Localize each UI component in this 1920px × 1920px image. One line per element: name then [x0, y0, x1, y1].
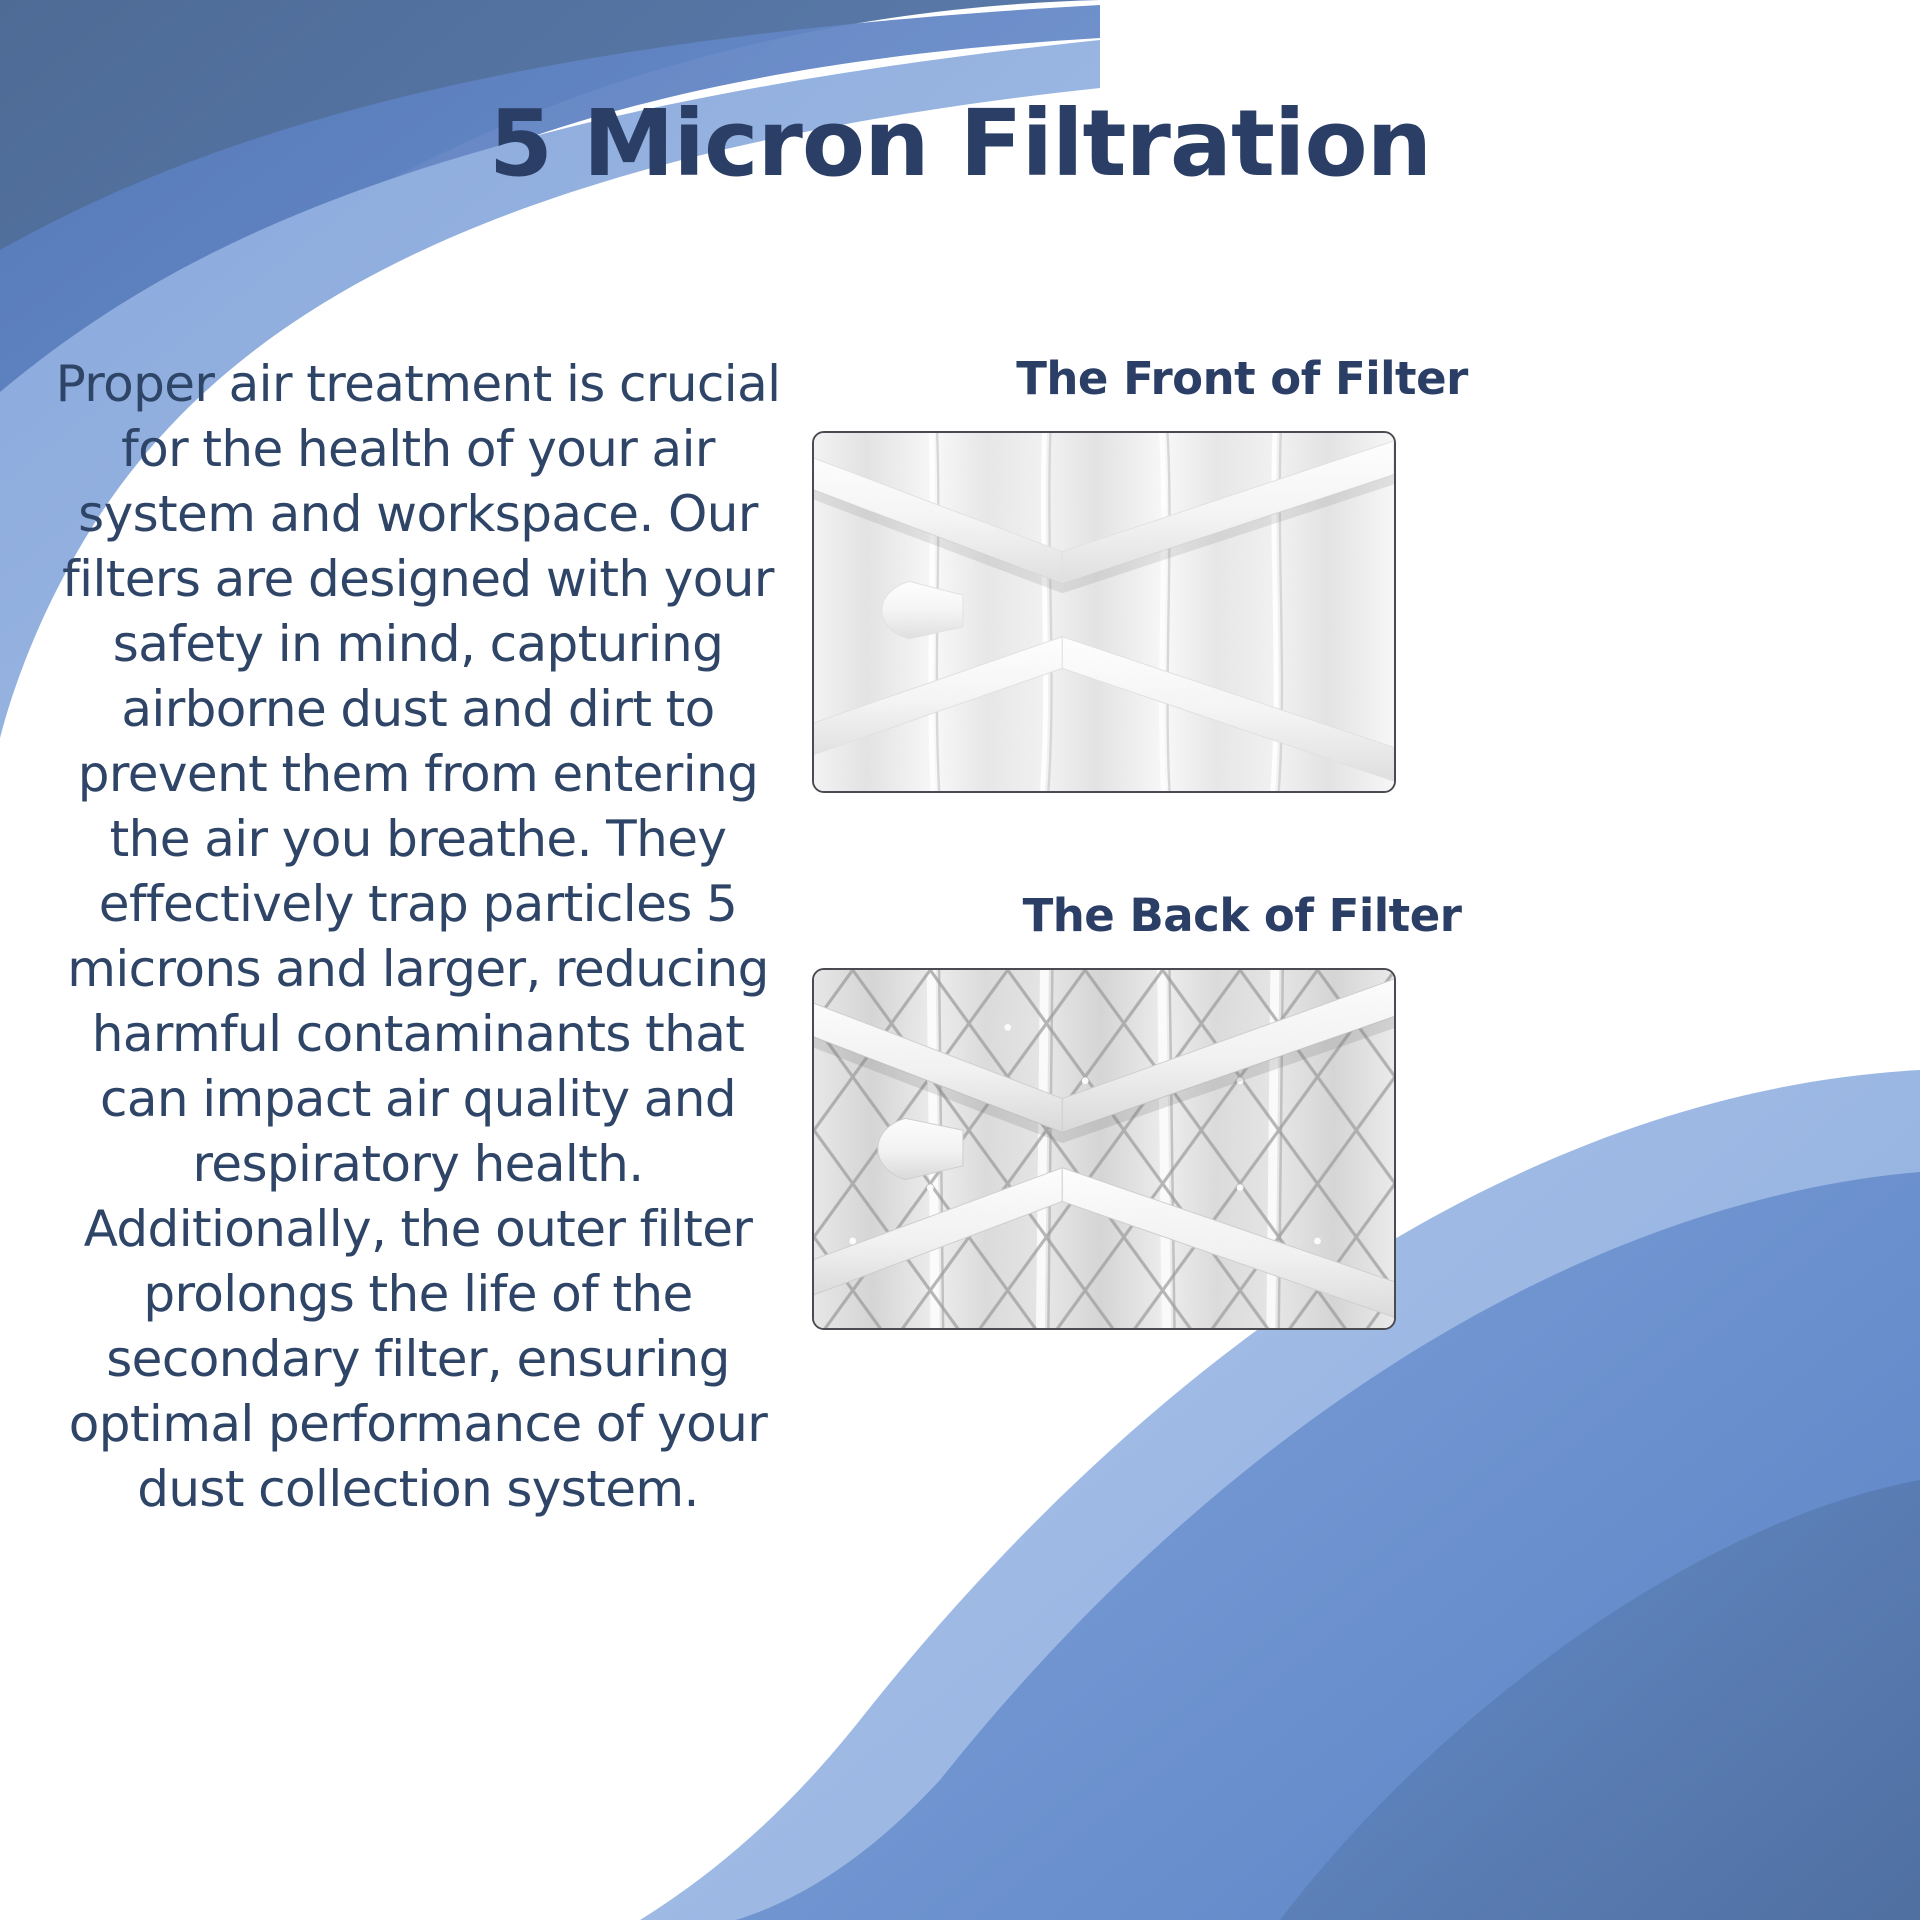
- body-paragraph: Proper air treatment is crucial for the …: [44, 352, 792, 1522]
- back-filter-photo: [814, 970, 1394, 1328]
- main-content: Proper air treatment is crucial for the …: [0, 352, 1920, 1912]
- figure-column: The Front of Filter: [812, 352, 1872, 1330]
- figure-back-of-filter: The Back of Filter: [812, 889, 1872, 1330]
- figure-back-caption: The Back of Filter: [812, 889, 1872, 942]
- figure-back-image-frame: [812, 968, 1396, 1330]
- front-filter-photo: [814, 433, 1394, 791]
- figure-front-of-filter: The Front of Filter: [812, 352, 1872, 793]
- poster-canvas: 5 Micron Filtration Proper air treatment…: [0, 0, 1920, 1920]
- page-title: 5 Micron Filtration: [0, 96, 1920, 193]
- title-block: 5 Micron Filtration: [0, 96, 1920, 193]
- figure-front-caption: The Front of Filter: [812, 352, 1872, 405]
- figure-front-image-frame: [812, 431, 1396, 793]
- body-text-column: Proper air treatment is crucial for the …: [44, 352, 792, 1522]
